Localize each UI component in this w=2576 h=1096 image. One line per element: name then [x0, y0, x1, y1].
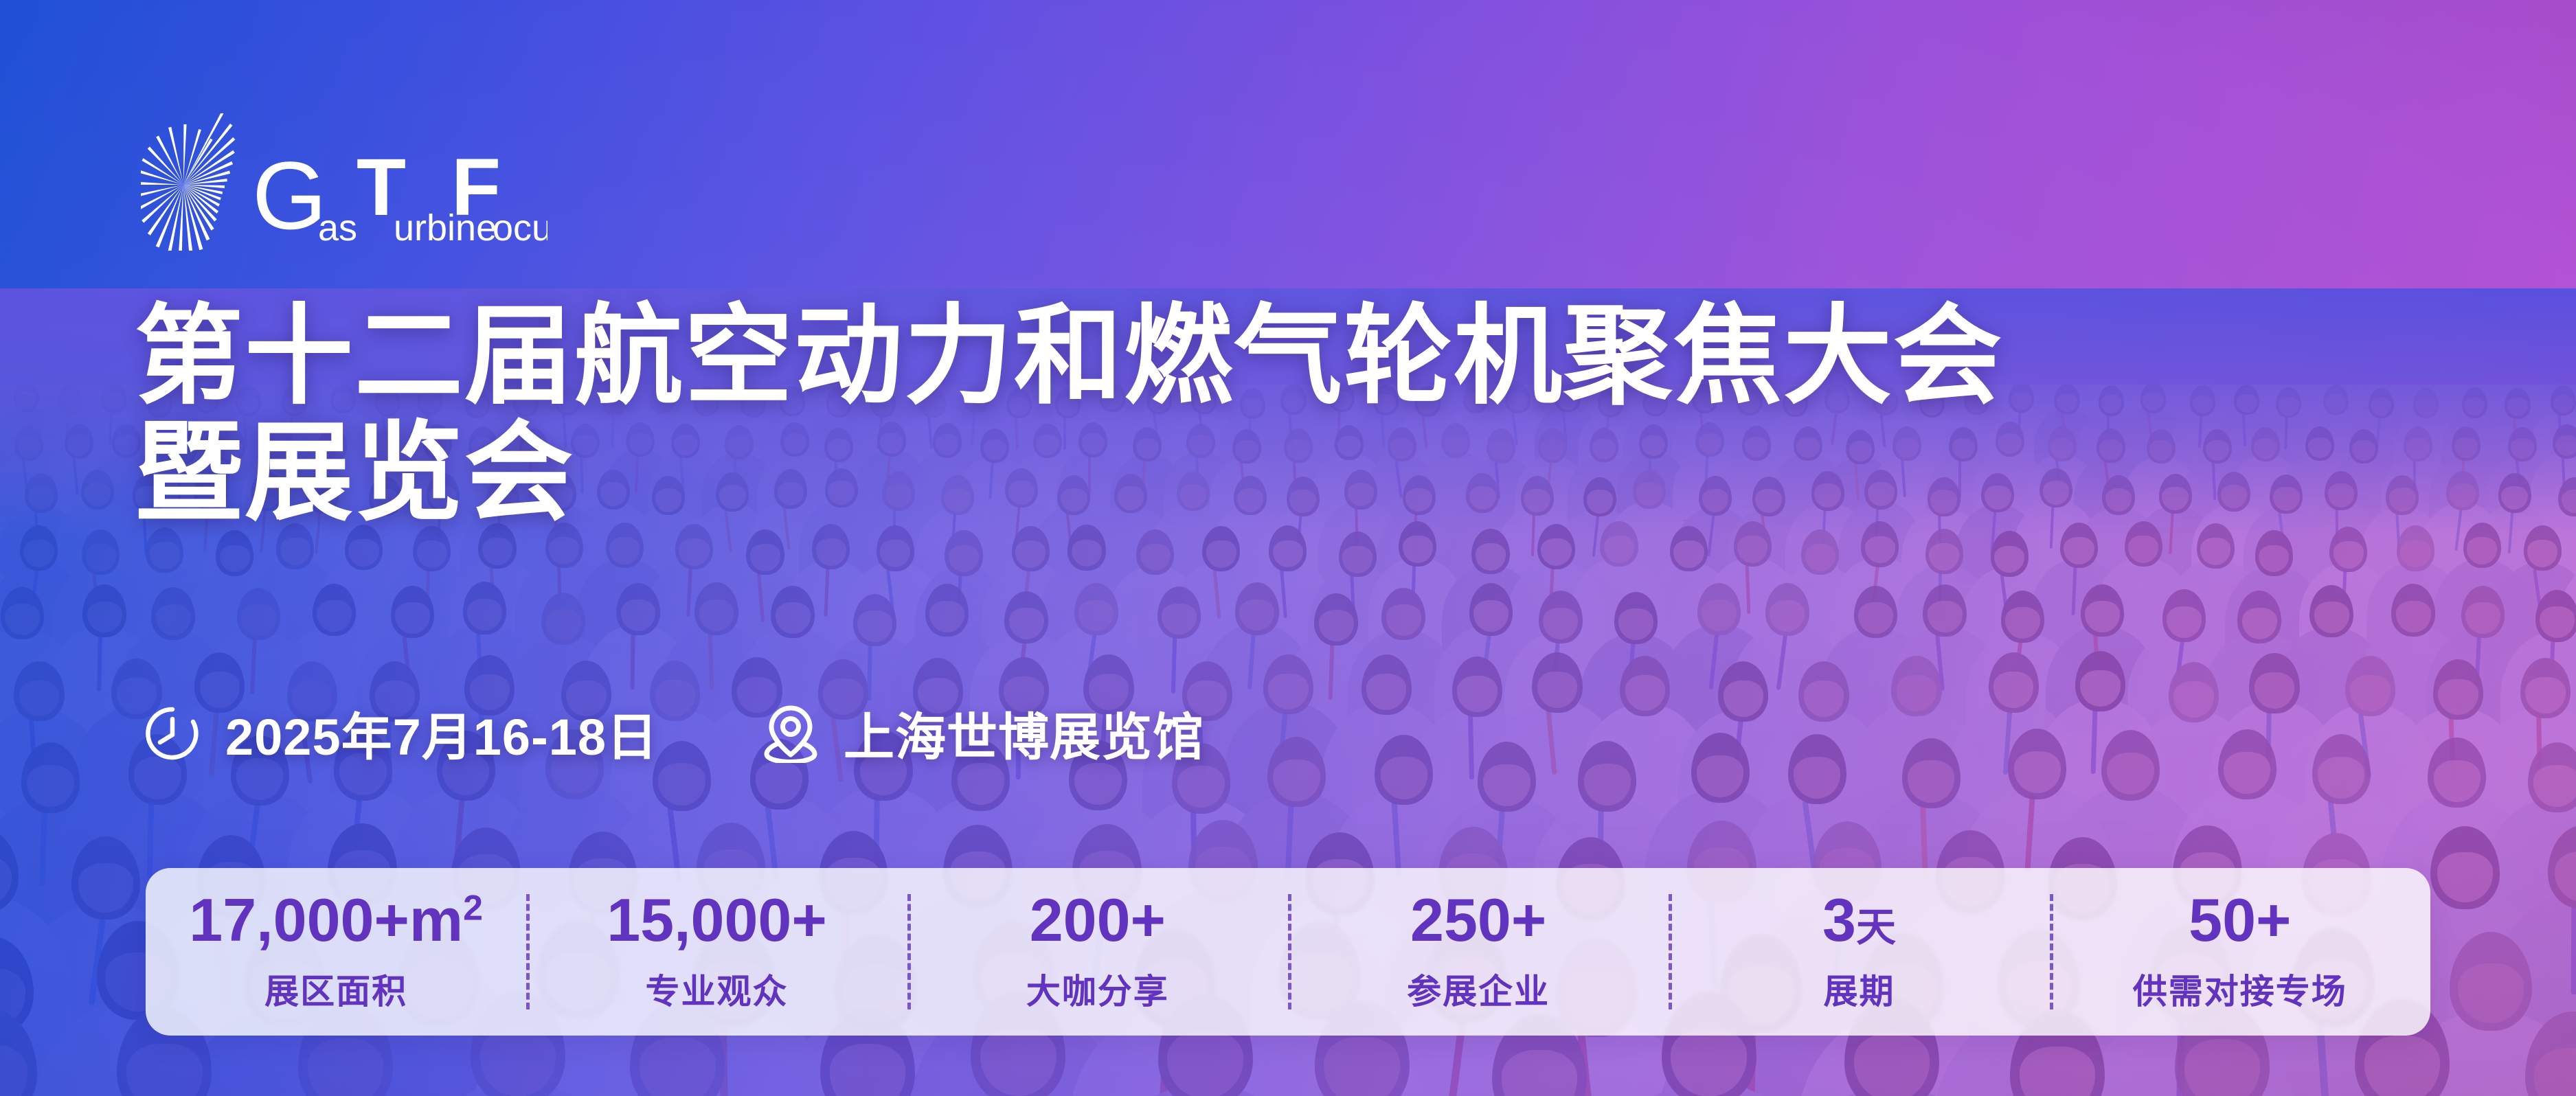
stat-value: 50+	[2189, 890, 2291, 950]
stat-value: 15,000+	[607, 890, 827, 950]
stat-label: 参展企业	[1407, 964, 1550, 1014]
stat-label: 专业观众	[645, 964, 788, 1014]
stat-item: 3天展期	[1669, 868, 2049, 1036]
clock-icon	[143, 704, 202, 763]
gtf-wordmark: G T F as urbine ocus	[252, 148, 547, 251]
stat-divider	[526, 894, 530, 1009]
svg-text:urbine: urbine	[394, 207, 497, 249]
stat-unit: 天	[1856, 905, 1896, 950]
stat-item: 50+供需对接专场	[2050, 868, 2430, 1036]
svg-text:G: G	[252, 148, 327, 249]
banner-content: G T F as urbine ocus 第十二届航空动力和燃气轮机聚焦大会 暨…	[0, 0, 2576, 1096]
event-meta: 2025年7月16-18日 上海世博展览馆	[143, 696, 1204, 770]
stat-label: 供需对接专场	[2133, 964, 2347, 1014]
stat-item: 250+参展企业	[1288, 868, 1669, 1036]
event-date-text: 2025年7月16-18日	[225, 696, 658, 770]
turbine-burst-icon	[141, 113, 256, 251]
event-venue-text: 上海世博展览馆	[844, 696, 1204, 770]
event-date: 2025年7月16-18日	[143, 696, 658, 770]
svg-text:as: as	[318, 207, 357, 249]
stat-superscript: 2	[463, 889, 483, 928]
event-banner: G T F as urbine ocus 第十二届航空动力和燃气轮机聚焦大会 暨…	[0, 0, 2576, 1096]
stat-item: 200+大咖分享	[907, 868, 1288, 1036]
stat-divider	[1669, 894, 1672, 1009]
stat-divider	[1288, 894, 1291, 1009]
event-venue: 上海世博展览馆	[761, 696, 1204, 770]
stat-value: 3天	[1822, 890, 1896, 950]
stat-item: 15,000+专业观众	[526, 868, 907, 1036]
stat-divider	[2050, 894, 2053, 1009]
stat-item: 17,000+m2展区面积	[146, 868, 526, 1036]
stat-label: 大咖分享	[1026, 964, 1169, 1014]
event-title: 第十二届航空动力和燃气轮机聚焦大会 暨展览会	[135, 298, 2003, 532]
gtf-logo[interactable]: G T F as urbine ocus	[141, 113, 547, 251]
svg-text:ocus: ocus	[493, 207, 547, 249]
stat-value: 17,000+m2	[189, 890, 483, 950]
stats-bar: 17,000+m2展区面积15,000+专业观众200+大咖分享250+参展企业…	[146, 868, 2430, 1036]
map-pin-icon	[761, 704, 820, 763]
stat-value: 250+	[1410, 890, 1546, 950]
stat-divider	[907, 894, 911, 1009]
stat-value: 200+	[1030, 890, 1166, 950]
stat-label: 展区面积	[264, 964, 407, 1014]
stat-label: 展期	[1823, 964, 1895, 1014]
